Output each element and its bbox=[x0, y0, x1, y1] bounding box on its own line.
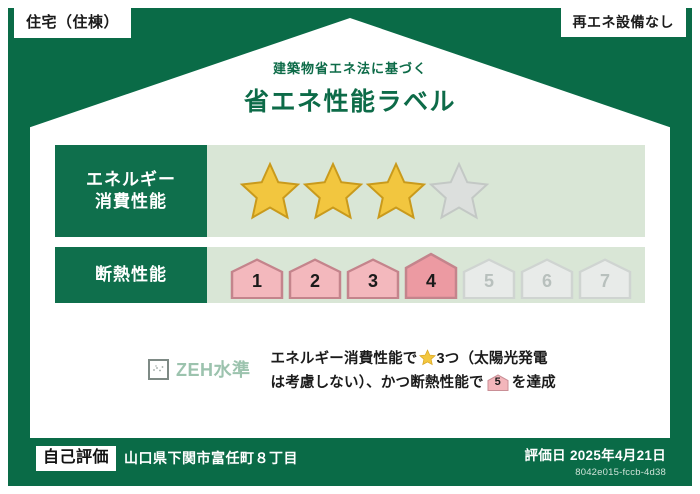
star-icon bbox=[419, 349, 436, 366]
description-line2-b: を達成 bbox=[512, 375, 556, 391]
insulation-grade-value: 5 bbox=[484, 272, 494, 299]
insulation-grade-value: 7 bbox=[600, 272, 610, 299]
star-icon-filled bbox=[239, 161, 301, 221]
insulation-grade-value: 4 bbox=[426, 272, 436, 299]
insulation-grade-value: 2 bbox=[310, 272, 320, 299]
insulation-grade-value: 6 bbox=[542, 272, 552, 299]
label-identifier-hash: 8042e015-fccb-4d38 bbox=[524, 467, 666, 478]
zeh-standard-label: ZEH水準 bbox=[176, 356, 251, 382]
inline-grade-badge: 5 bbox=[487, 374, 509, 391]
description-line-2: は考慮しない）、かつ断熱性能で 5 を達成 bbox=[271, 372, 556, 396]
heading-title: 省エネ性能ラベル bbox=[0, 82, 700, 118]
energy-performance-row: エネルギー 消費性能 bbox=[55, 145, 645, 237]
evaluation-date: 評価日 2025年4月21日 bbox=[524, 444, 666, 464]
description-line1-b: 3つ（太陽光発電 bbox=[437, 351, 548, 367]
star-icon-filled bbox=[365, 161, 427, 221]
star-rating bbox=[239, 161, 490, 221]
energy-performance-label: エネルギー 消費性能 bbox=[55, 145, 207, 237]
insulation-grade-2: 2 bbox=[287, 257, 343, 299]
insulation-grade-value: 3 bbox=[368, 272, 378, 299]
insulation-grade-scale: 1234567 bbox=[229, 251, 633, 299]
insulation-performance-row: 断熱性能 1234567 bbox=[55, 247, 645, 303]
energy-performance-label: 住宅（住棟） 再エネ設備なし 建築物省エネ法に基づく 省エネ性能ラベル エネルギ… bbox=[0, 0, 700, 494]
energy-label-line2: 消費性能 bbox=[95, 191, 167, 213]
performance-description: エネルギー消費性能で 3つ（太陽光発電 は考慮しない）、かつ断熱性能で 5 を達… bbox=[271, 348, 556, 396]
footer-left: 自己評価 山口県下関市富任町８丁目 bbox=[36, 446, 298, 471]
star-icon-filled bbox=[302, 161, 364, 221]
evaluation-date-value: 2025年4月21日 bbox=[570, 448, 666, 463]
energy-label-line1: エネルギー bbox=[86, 169, 176, 191]
renewable-equipment-tab: 再エネ設備なし bbox=[561, 8, 687, 37]
insulation-grade-6: 6 bbox=[519, 257, 575, 299]
description-line2-a: は考慮しない）、かつ断熱性能で bbox=[271, 375, 484, 391]
heading-subtitle: 建築物省エネ法に基づく bbox=[0, 58, 700, 77]
insulation-performance-label: 断熱性能 bbox=[55, 247, 207, 303]
inline-grade-value: 5 bbox=[487, 374, 509, 391]
footer-right: 評価日 2025年4月21日 8042e015-fccb-4d38 bbox=[524, 444, 666, 478]
evaluation-date-label: 評価日 bbox=[524, 448, 565, 463]
building-type-tab: 住宅（住棟） bbox=[14, 8, 131, 38]
insulation-grade-4: 4 bbox=[403, 251, 459, 299]
insulation-grade-5: 5 bbox=[461, 257, 517, 299]
zeh-description-block: ZEH水準 エネルギー消費性能で 3つ（太陽光発電 は考慮しない）、かつ断熱性能… bbox=[148, 348, 556, 396]
star-icon-empty bbox=[428, 161, 490, 221]
energy-performance-value bbox=[207, 145, 645, 237]
insulation-grade-7: 7 bbox=[577, 257, 633, 299]
description-line-1: エネルギー消費性能で 3つ（太陽光発電 bbox=[271, 348, 556, 372]
insulation-label-line1: 断熱性能 bbox=[95, 264, 167, 286]
insulation-grade-value: 1 bbox=[252, 272, 262, 299]
insulation-grade-1: 1 bbox=[229, 257, 285, 299]
zeh-checkbox-icon bbox=[148, 359, 169, 380]
insulation-grade-3: 3 bbox=[345, 257, 401, 299]
description-line1-a: エネルギー消費性能で bbox=[271, 351, 418, 367]
zeh-standard-chip: ZEH水準 bbox=[148, 348, 251, 382]
label-heading: 建築物省エネ法に基づく 省エネ性能ラベル bbox=[0, 58, 700, 118]
property-address: 山口県下関市富任町８丁目 bbox=[124, 448, 298, 468]
insulation-performance-value: 1234567 bbox=[207, 247, 645, 303]
self-evaluation-badge: 自己評価 bbox=[36, 446, 116, 471]
